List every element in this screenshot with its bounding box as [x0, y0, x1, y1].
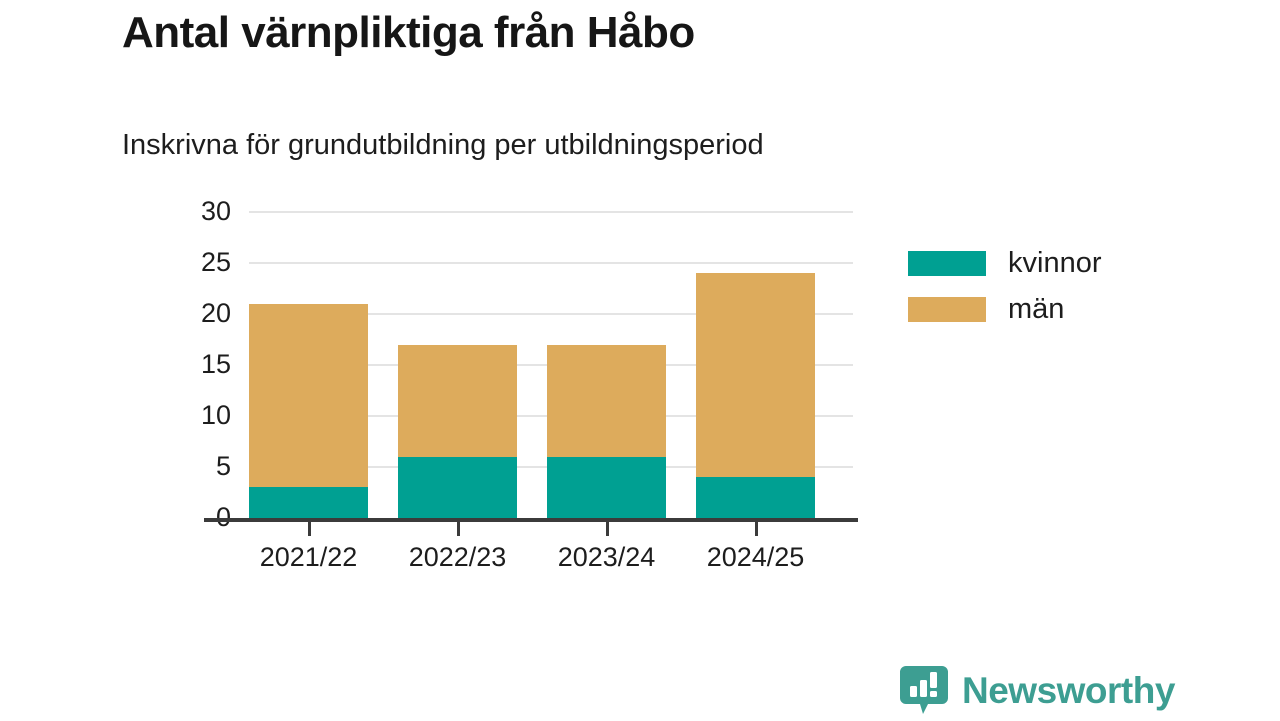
gridline — [249, 211, 853, 213]
legend-item-kvinnor[interactable]: kvinnor — [908, 240, 1102, 286]
x-axis-tick-mark — [308, 522, 311, 536]
legend-item-män[interactable]: män — [908, 286, 1102, 332]
y-axis-tick-label: 5 — [175, 453, 231, 480]
y-axis-tick-label: 20 — [175, 300, 231, 327]
newsworthy-wordmark: Newsworthy — [962, 672, 1175, 709]
bar-segment-män-2023-24 — [547, 345, 666, 457]
y-axis-tick-label: 30 — [175, 198, 231, 225]
x-axis-tick-mark — [755, 522, 758, 536]
bar-segment-kvinnor-2023-24 — [547, 457, 666, 518]
x-axis-tick-mark — [606, 522, 609, 536]
x-axis-line — [204, 518, 858, 522]
bar-segment-män-2024-25 — [696, 273, 815, 477]
bar-segment-män-2021-22 — [249, 304, 368, 488]
x-axis-tick-label: 2024/25 — [666, 544, 846, 571]
legend-swatch-kvinnor — [908, 251, 986, 276]
chart-legend: kvinnormän — [908, 240, 1102, 332]
bar-chart-plot-area: 0510152025302021/222022/232023/242024/25 — [0, 0, 1280, 720]
y-axis-tick-label: 15 — [175, 351, 231, 378]
gridline — [249, 262, 853, 264]
newsworthy-bubble-bars-icon — [898, 664, 950, 716]
bar-segment-kvinnor-2022-23 — [398, 457, 517, 518]
legend-label: män — [1008, 295, 1064, 324]
newsworthy-logo: Newsworthy — [898, 664, 1175, 716]
bar-segment-kvinnor-2024-25 — [696, 477, 815, 518]
y-axis-tick-label: 10 — [175, 402, 231, 429]
legend-swatch-män — [908, 297, 986, 322]
y-axis-tick-label: 25 — [175, 249, 231, 276]
bar-segment-kvinnor-2021-22 — [249, 487, 368, 518]
bar-segment-män-2022-23 — [398, 345, 517, 457]
chart-page: Antal värnpliktiga från Håbo Inskrivna f… — [0, 0, 1280, 720]
legend-label: kvinnor — [1008, 249, 1102, 278]
x-axis-tick-mark — [457, 522, 460, 536]
